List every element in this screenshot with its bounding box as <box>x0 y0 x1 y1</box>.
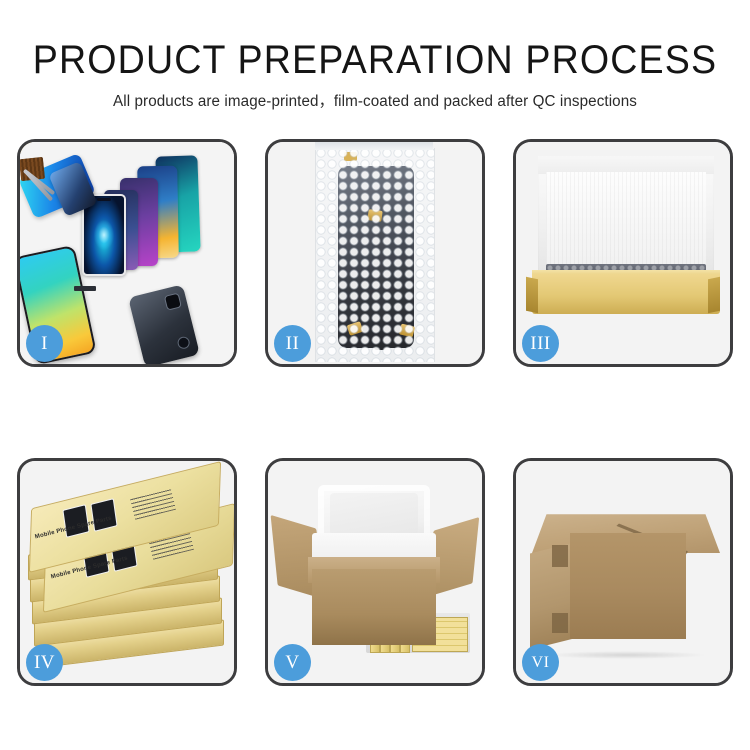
step-panel-5[interactable]: V <box>265 458 485 686</box>
carton-front-face-icon <box>570 533 686 639</box>
bubble-wrap-bag-icon <box>315 148 435 362</box>
step-badge-1: I <box>26 325 63 362</box>
camera-lens-icon <box>178 337 190 349</box>
kraft-box-body-icon <box>532 274 720 314</box>
carton-tape-lower-icon <box>552 613 568 633</box>
step-panel-1[interactable]: I <box>17 139 237 367</box>
step-badge-4: IV <box>26 644 63 681</box>
box-flap-left-icon <box>526 277 538 314</box>
page-header: PRODUCT PREPARATION PROCESS All products… <box>0 0 750 113</box>
step-panel-2[interactable]: II <box>265 139 485 367</box>
earpiece-part-icon <box>74 286 96 291</box>
step-panel-3[interactable]: III <box>513 139 733 367</box>
page-title: PRODUCT PREPARATION PROCESS <box>23 38 728 82</box>
process-steps-grid: I II <box>17 139 733 686</box>
box-stack-icon: Mobile Phone Spare Parts Mobile Phone Sp… <box>22 481 234 671</box>
bag-seal-icon <box>315 142 433 150</box>
box-window-icon <box>90 498 117 532</box>
phone-notch-icon <box>97 198 111 201</box>
carton-shadow-icon <box>546 651 706 659</box>
box-flap-right-icon <box>708 277 720 314</box>
carton-body-icon <box>312 569 436 645</box>
step-panel-4[interactable]: Mobile Phone Spare Parts Mobile Phone Sp… <box>17 458 237 686</box>
step-badge-3: III <box>522 325 559 362</box>
page-subtitle: All products are image-printed，film-coat… <box>8 91 743 113</box>
step-panel-6[interactable]: VI <box>513 458 733 686</box>
foam-lid-inset-icon <box>330 493 418 535</box>
carton-tape-upper-icon <box>552 545 568 567</box>
step-badge-2: II <box>274 325 311 362</box>
step-badge-5: V <box>274 644 311 681</box>
foam-sheet-icon <box>546 172 706 278</box>
camera-module-icon <box>165 294 181 310</box>
bubble-texture-icon <box>316 148 434 362</box>
step-badge-6: VI <box>522 644 559 681</box>
